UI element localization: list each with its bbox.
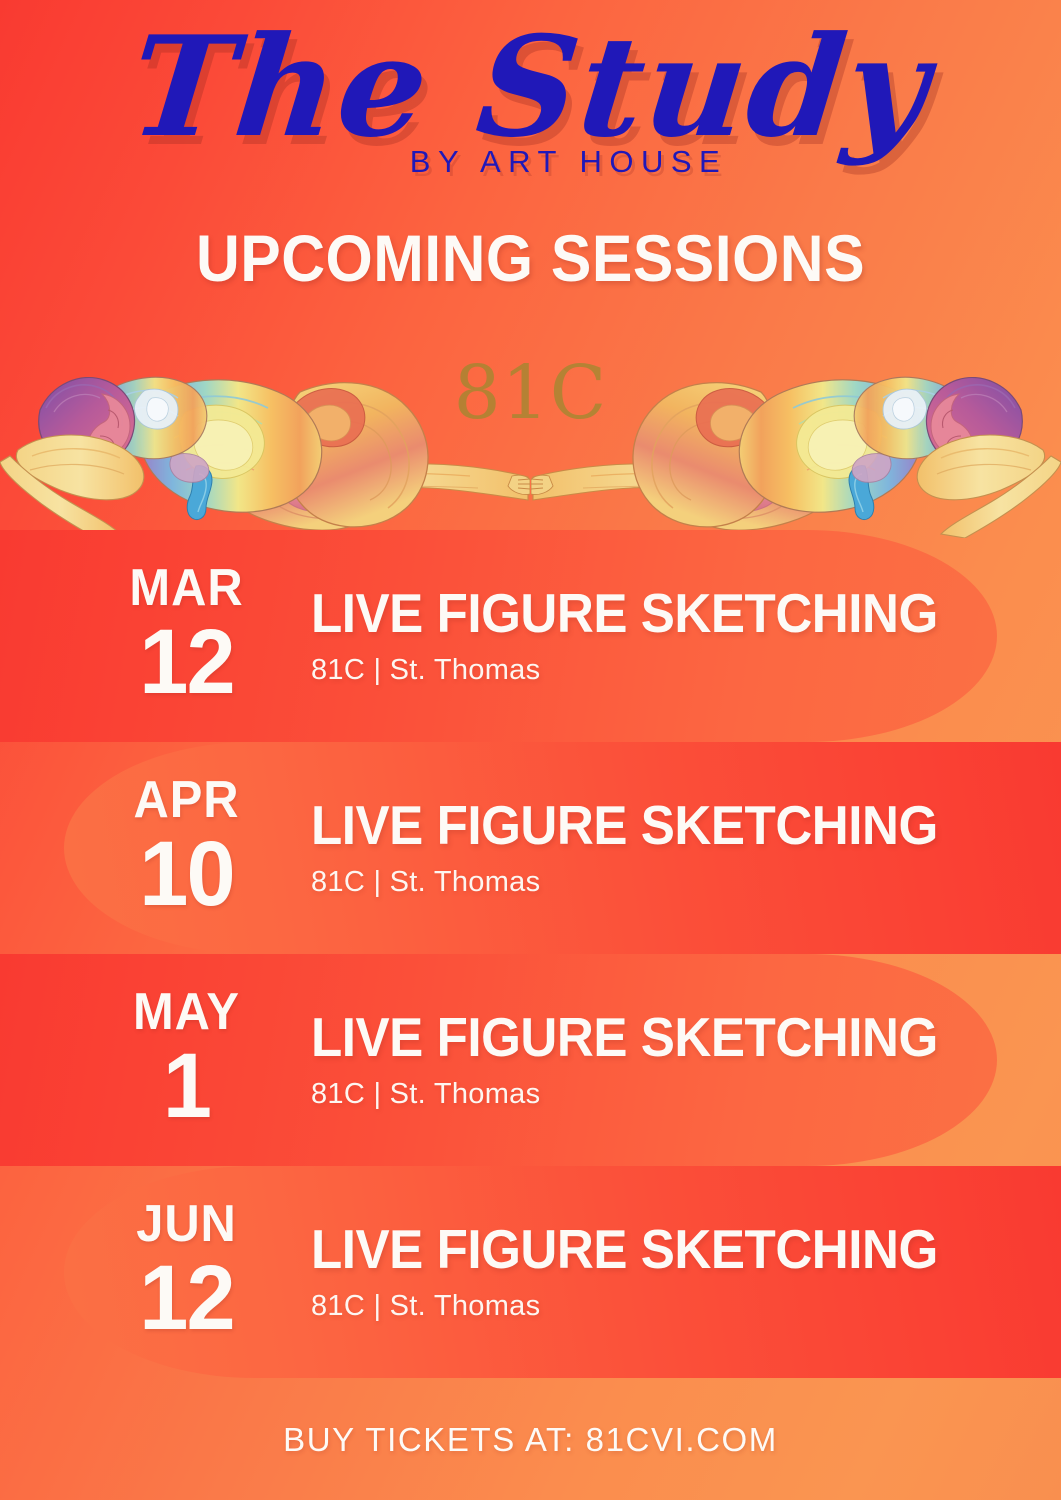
- event-poster: The Study BY ART HOUSE UPCOMING SESSIONS…: [0, 0, 1061, 1500]
- session-day: 12: [88, 1252, 285, 1346]
- session-date-2: MAY 1: [84, 986, 289, 1134]
- session-day: 10: [88, 828, 285, 922]
- brand-script-logo: The Study: [0, 14, 1061, 160]
- session-title: LIVE FIGURE SKETCHING: [311, 585, 1009, 642]
- session-venue: 81C | St. Thomas: [311, 1078, 1061, 1111]
- session-month: MAR: [90, 562, 283, 614]
- session-info-2: LIVE FIGURE SKETCHING 81C | St. Thomas: [289, 1009, 1061, 1111]
- poster-header: The Study BY ART HOUSE UPCOMING SESSIONS: [0, 0, 1061, 296]
- session-date-1: APR 10: [84, 774, 289, 922]
- session-day: 12: [88, 616, 285, 710]
- session-title: LIVE FIGURE SKETCHING: [311, 1009, 1009, 1066]
- page-title: UPCOMING SESSIONS: [42, 220, 1018, 296]
- session-month: APR: [90, 774, 283, 826]
- session-row-0[interactable]: MAR 12 LIVE FIGURE SKETCHING 81C | St. T…: [0, 530, 1061, 742]
- session-list: MAR 12 LIVE FIGURE SKETCHING 81C | St. T…: [0, 530, 1061, 1380]
- session-date-0: MAR 12: [84, 562, 289, 710]
- session-title: LIVE FIGURE SKETCHING: [311, 797, 1009, 854]
- session-row-1[interactable]: APR 10 LIVE FIGURE SKETCHING 81C | St. T…: [0, 742, 1061, 954]
- session-venue: 81C | St. Thomas: [311, 866, 1061, 899]
- session-row-3[interactable]: JUN 12 LIVE FIGURE SKETCHING 81C | St. T…: [0, 1166, 1061, 1378]
- session-title: LIVE FIGURE SKETCHING: [311, 1221, 1009, 1278]
- session-row-2[interactable]: MAY 1 LIVE FIGURE SKETCHING 81C | St. Th…: [0, 954, 1061, 1166]
- session-venue: 81C | St. Thomas: [311, 654, 1061, 687]
- session-date-3: JUN 12: [84, 1198, 289, 1346]
- session-info-3: LIVE FIGURE SKETCHING 81C | St. Thomas: [289, 1221, 1061, 1323]
- session-info-1: LIVE FIGURE SKETCHING 81C | St. Thomas: [289, 797, 1061, 899]
- session-venue: 81C | St. Thomas: [311, 1290, 1061, 1323]
- session-month: MAY: [90, 986, 283, 1038]
- session-month: JUN: [90, 1198, 283, 1250]
- poster-footer: BUY TICKETS AT: 81CVI.COM: [0, 1380, 1061, 1500]
- buy-tickets-cta[interactable]: BUY TICKETS AT: 81CVI.COM: [283, 1421, 778, 1459]
- brand-watermark: 81C: [0, 350, 1061, 436]
- session-info-0: LIVE FIGURE SKETCHING 81C | St. Thomas: [289, 585, 1061, 687]
- session-day: 1: [88, 1040, 285, 1134]
